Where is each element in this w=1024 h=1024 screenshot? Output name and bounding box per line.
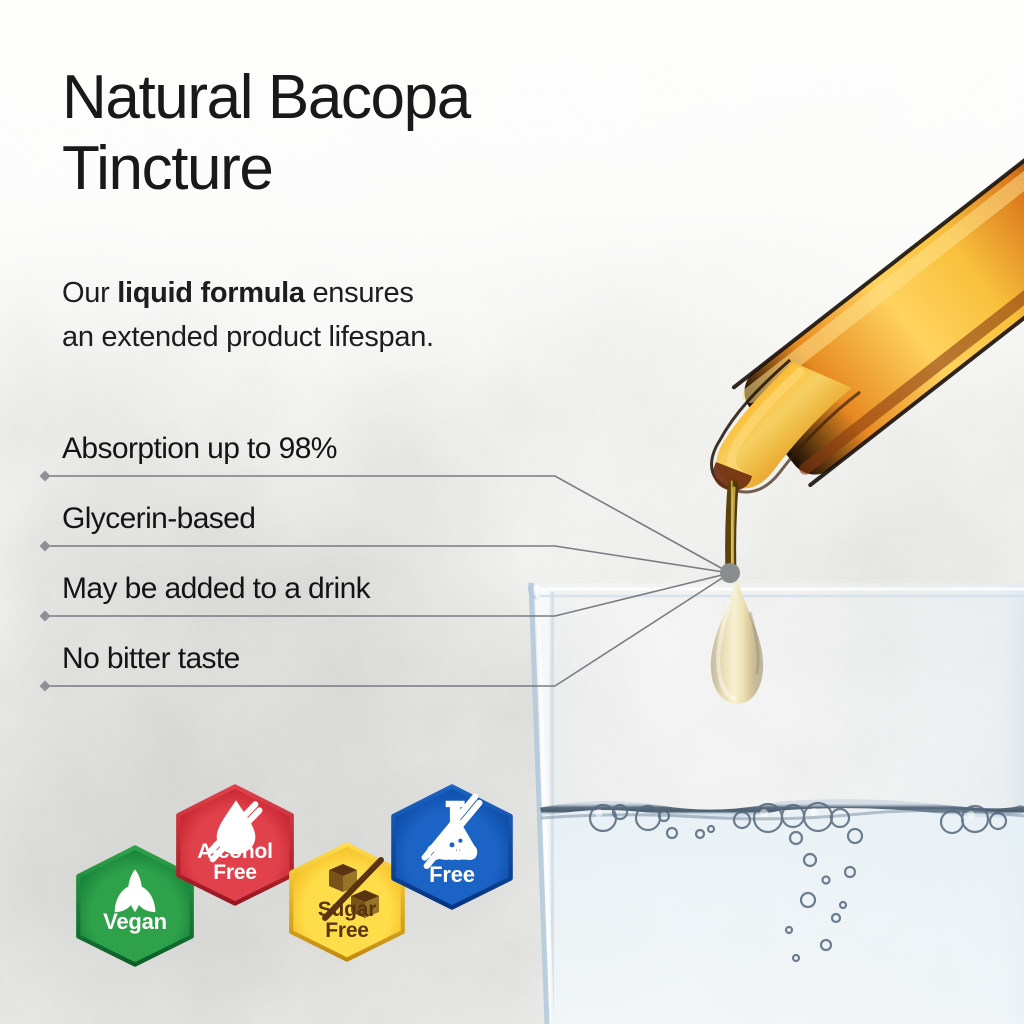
badge-gmo-free[interactable]: GMOFree [389,784,515,910]
feature-label-1: Absorption up to 98% [62,432,337,466]
page-subtitle: Our liquid formula ensures an extended p… [62,272,602,359]
product-infographic: Natural Bacopa Tincture Our liquid formu… [0,0,1024,1024]
title-line-1: Natural Bacopa [62,63,470,132]
page-title: Natural Bacopa Tincture [62,62,702,205]
feature-label-4: No bitter taste [62,642,240,676]
subtitle-pre: Our [62,277,117,309]
badge-alcohol-free[interactable]: AlcoholFree [174,784,296,906]
title-line-2: Tincture [62,134,272,203]
badge-hexagon-alcohol-free [174,784,296,906]
subtitle-emphasis: liquid formula [117,277,305,309]
feature-label-3: May be added to a drink [62,572,370,606]
badge-hexagon-gmo-free [389,784,515,910]
leader-marker-1 [40,471,51,482]
leader-marker-4 [40,681,51,692]
feature-label-2: Glycerin-based [62,502,255,536]
leader-line-2 [40,541,731,574]
subtitle-line-2: an extended product lifespan. [62,321,434,353]
leader-focus-dot [720,563,740,583]
leader-marker-3 [40,611,51,622]
subtitle-post: ensures [305,277,414,309]
leader-marker-2 [40,541,51,552]
